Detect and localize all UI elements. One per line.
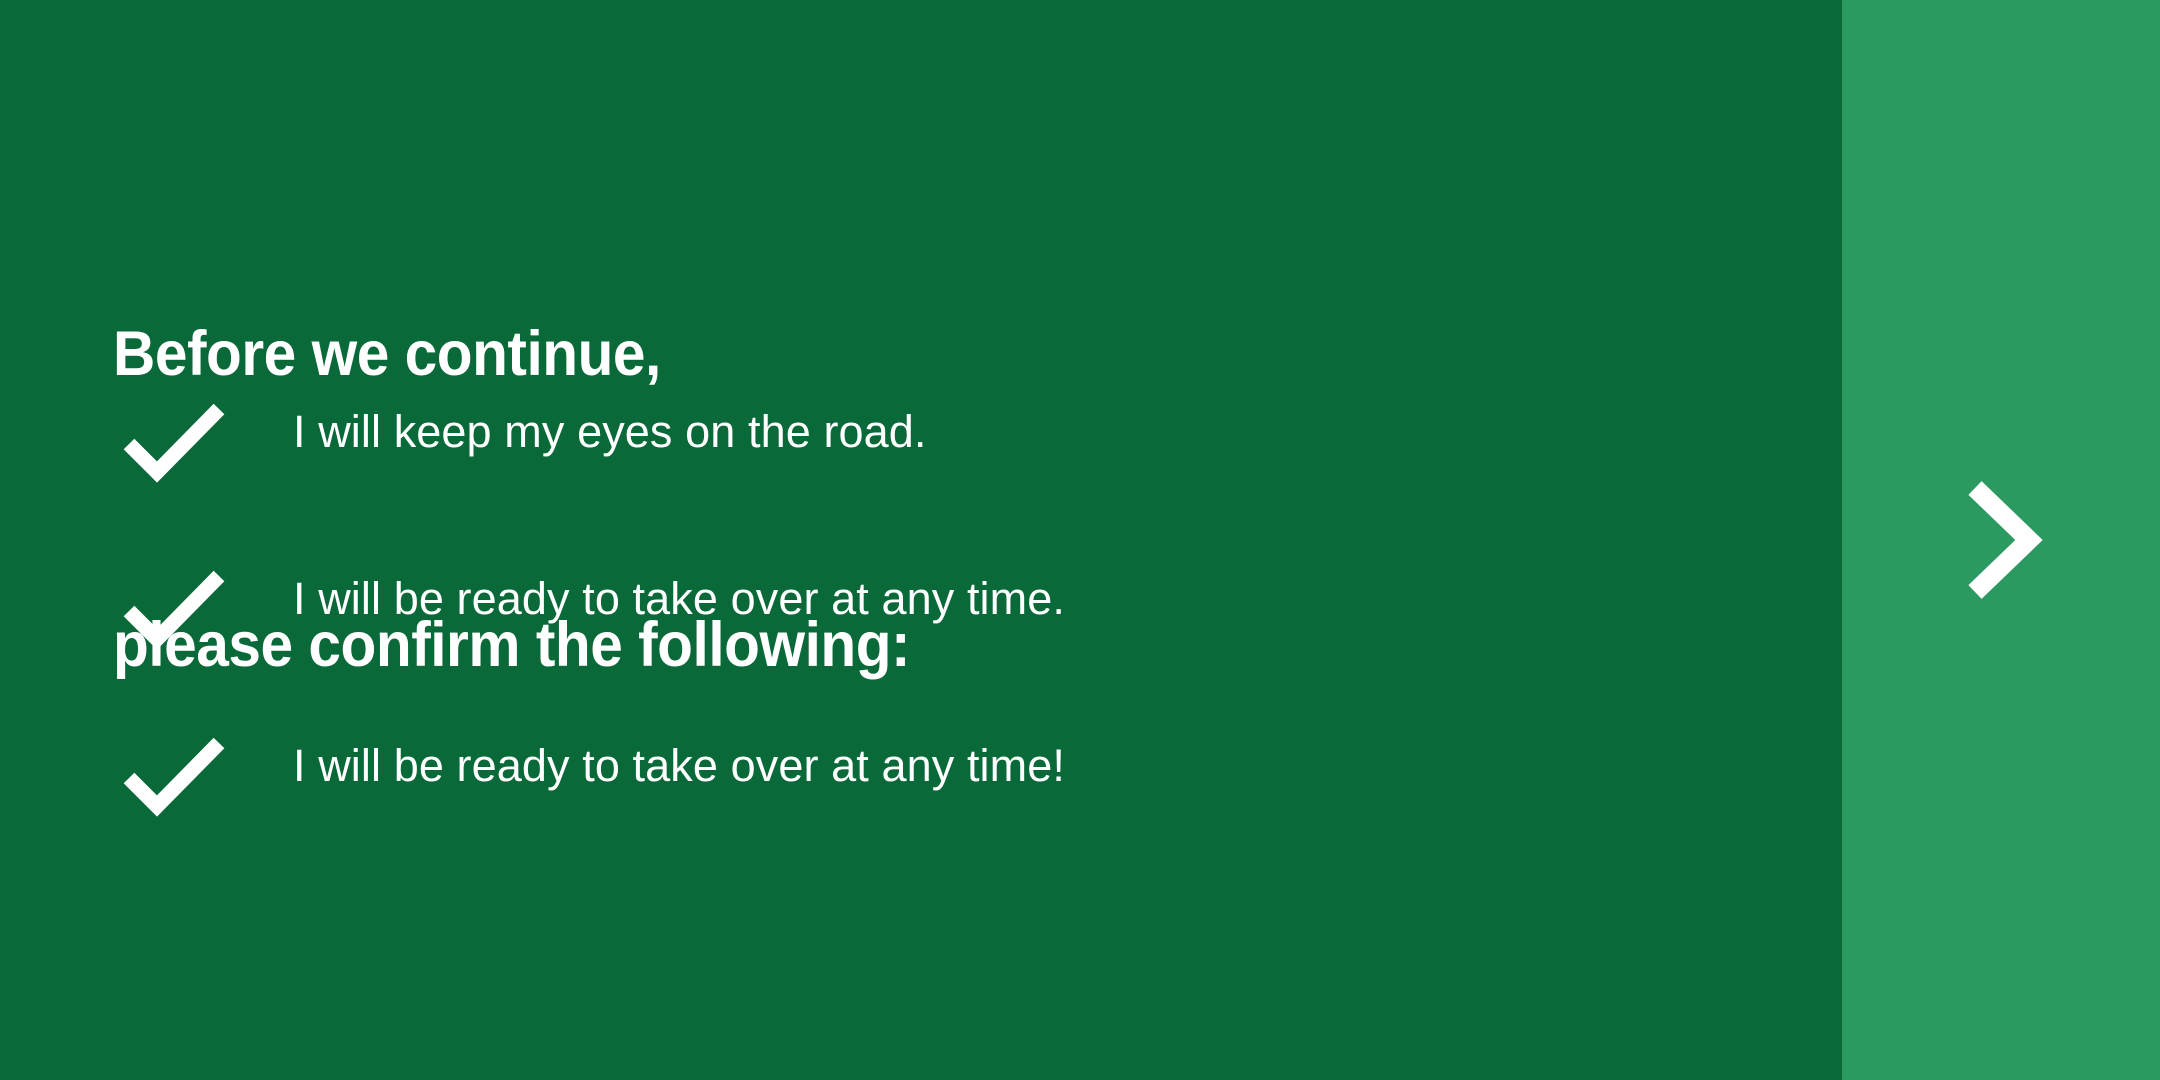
- content-panel: Before we continue, please confirm the f…: [0, 0, 1842, 1080]
- checklist-item-label: I will be ready to take over at any time…: [293, 726, 1713, 802]
- confirmation-checklist: I will keep my eyes on the road. I will …: [113, 392, 1713, 893]
- check-icon: [113, 392, 293, 482]
- next-panel[interactable]: [1842, 0, 2160, 1080]
- confirmation-screen: Before we continue, please confirm the f…: [0, 0, 2160, 1080]
- checklist-item-label: I will be ready to take over at any time…: [293, 559, 1713, 635]
- chevron-right-icon: [1965, 480, 2045, 600]
- checklist-item[interactable]: I will keep my eyes on the road.: [113, 392, 1713, 559]
- checklist-item[interactable]: I will be ready to take over at any time…: [113, 559, 1713, 726]
- check-icon: [113, 726, 293, 816]
- next-button[interactable]: [1965, 480, 2045, 600]
- checklist-item-label: I will keep my eyes on the road.: [293, 392, 1713, 468]
- check-icon: [113, 559, 293, 649]
- checklist-item[interactable]: I will be ready to take over at any time…: [113, 726, 1713, 893]
- page-title-line-1: Before we continue,: [113, 306, 1508, 403]
